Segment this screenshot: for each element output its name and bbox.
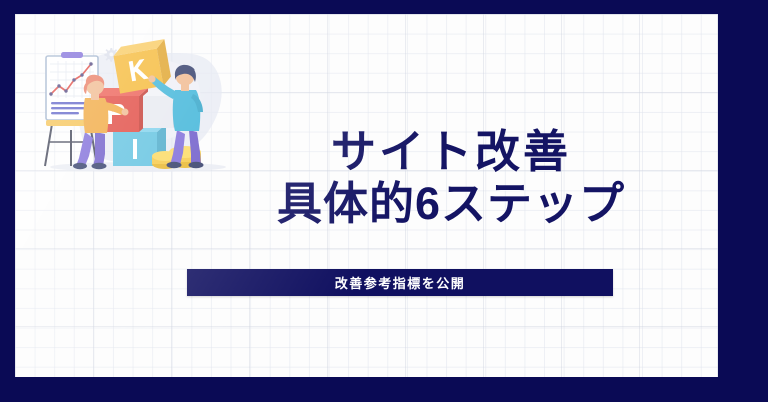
grid-canvas: サイト改善 具体的6ステップ 改善参考指標を公開 <box>15 14 718 377</box>
title-line-1: サイト改善 <box>251 126 651 178</box>
subtitle-text: 改善参考指標を公開 <box>335 273 466 292</box>
banner-root: サイト改善 具体的6ステップ 改善参考指標を公開 <box>0 0 768 402</box>
title-block: サイト改善 具体的6ステップ <box>251 126 651 230</box>
kpi-teamwork-illustration <box>33 34 248 184</box>
title-line-2: 具体的6ステップ <box>251 178 651 230</box>
subtitle-bar: 改善参考指標を公開 <box>187 269 613 296</box>
